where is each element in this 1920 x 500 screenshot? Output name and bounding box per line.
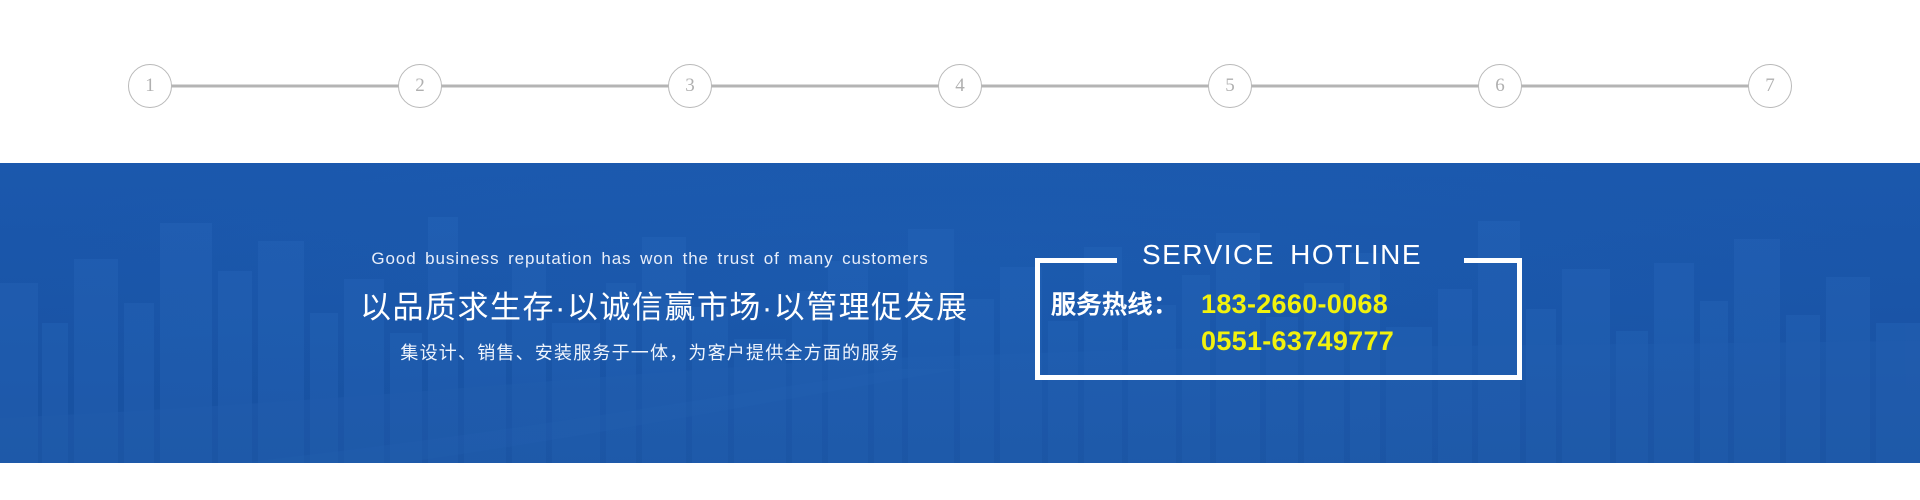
step-connector-4-5 <box>960 85 1230 88</box>
step-indicator: 1 2 3 4 5 6 7 <box>0 0 1920 163</box>
service-hotline-title: SERVICE HOTLINE <box>1107 239 1457 271</box>
step-connector-1-2 <box>150 85 420 88</box>
step-connector-5-6 <box>1230 85 1500 88</box>
hotline-phone-secondary[interactable]: 0551-63749777 <box>1201 325 1394 358</box>
hotline-row-primary: 服务热线： 183-2660-0068 <box>1051 288 1522 321</box>
hotline-label: 服务热线： <box>1051 290 1201 321</box>
step-node-1[interactable]: 1 <box>128 64 172 108</box>
step-node-7[interactable]: 7 <box>1748 64 1792 108</box>
hotline-phone-primary[interactable]: 183-2660-0068 <box>1201 288 1388 321</box>
step-connector-3-4 <box>690 85 960 88</box>
hotline-numbers: 服务热线： 183-2660-0068 服务热线： 0551-63749777 <box>1035 288 1522 358</box>
step-connector-6-7 <box>1500 85 1770 88</box>
slogan-block: Good business reputation has won the tru… <box>360 249 940 365</box>
service-hotline-box: SERVICE HOTLINE 服务热线： 183-2660-0068 服务热线… <box>1035 258 1522 380</box>
step-node-4[interactable]: 4 <box>938 64 982 108</box>
hotline-border-top-left <box>1035 258 1117 263</box>
hotline-row-secondary: 服务热线： 0551-63749777 <box>1051 325 1522 358</box>
slogan-english: Good business reputation has won the tru… <box>360 249 940 269</box>
step-node-5[interactable]: 5 <box>1208 64 1252 108</box>
step-connector-2-3 <box>420 85 690 88</box>
slogan-chinese-sub: 集设计、销售、安装服务于一体，为客户提供全方面的服务 <box>360 339 940 365</box>
step-node-2[interactable]: 2 <box>398 64 442 108</box>
step-node-6[interactable]: 6 <box>1478 64 1522 108</box>
hotline-border-top-right <box>1464 258 1522 263</box>
hotline-border-bottom <box>1035 375 1522 380</box>
slogan-chinese-main: 以品质求生存·以诚信赢市场·以管理促发展 <box>360 282 940 327</box>
page-root: 1 2 3 4 5 6 7 <box>0 0 1920 500</box>
promo-banner: Good business reputation has won the tru… <box>0 163 1920 463</box>
step-node-3[interactable]: 3 <box>668 64 712 108</box>
step-indicator-track: 1 2 3 4 5 6 7 <box>150 64 1770 108</box>
